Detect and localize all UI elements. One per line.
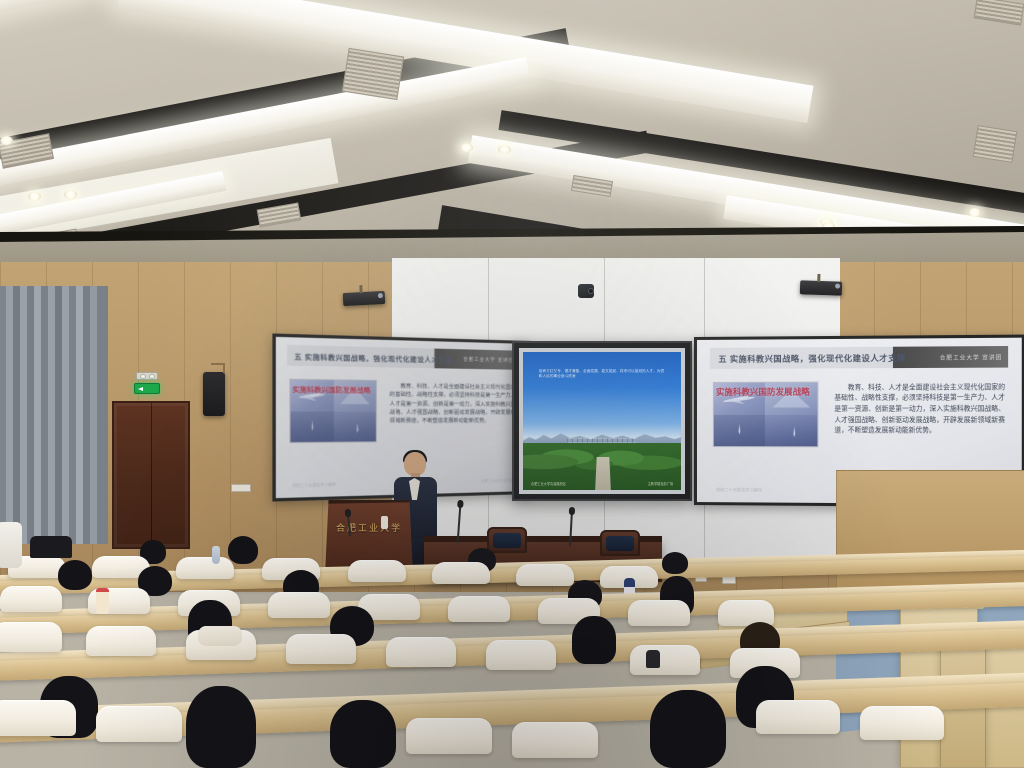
slide-image-collage: 实施科教兴国防发展战略 [713,382,818,448]
seat-back [432,562,490,584]
water-bottle [212,546,220,564]
loudspeaker-icon [203,372,225,416]
seat-back [628,600,690,626]
slide-body-text: 教育、科技、人才是全面建设社会主义现代化国家的基础性、战略性支撑，必须坚持科技是… [390,382,516,456]
slide-title-text: 五 实施科教兴国战略，强化现代化建设人才支撑 [294,350,452,364]
seat-back [86,626,156,656]
slide-title-bar: 五 实施科教兴国战略，强化现代化建设人才支撑 合肥工业大学 宣讲团 [287,345,518,370]
hvac-vent [974,0,1024,26]
seat-back [630,645,700,675]
audience-person [662,552,688,574]
slide-logo-text: 合肥工业大学 宣讲团 [940,353,1002,362]
door-seam [151,403,152,547]
thermos-bottle [96,588,109,614]
campus-path [595,457,611,490]
photo-caption-right: 主教学楼及前广场 [648,481,674,486]
audience-person [58,560,92,590]
collage-cell [291,411,334,442]
seat-back [268,592,330,618]
photo-sky-inscription: 培养又红又专、德才兼备、全面发展、能文能武、将来可以接班的人才，为党和人民的事业… [539,369,665,380]
seat-back [756,700,840,734]
projector-mount [359,285,362,293]
exit-sign-icon [134,383,160,394]
slide-body-paragraph: 教育、科技、人才是全面建设社会主义现代化国家的基础性、战略性支撑，必须坚持科技是… [390,382,516,426]
audience-person [650,690,726,768]
exit-door[interactable] [112,401,190,549]
projector-lens-icon [378,293,383,298]
projector-icon [343,291,386,306]
seat-back [860,706,944,740]
microphone-head [457,500,464,508]
seat-back [516,564,574,586]
projector-mount [817,274,820,282]
coat-on-seat [198,626,242,646]
slide-footer-left: 党的二十大报告学习辅导 [716,488,762,498]
projector-lens-icon [835,283,840,288]
slide-title-text: 五 实施科教兴国战略，强化现代化建设人才支撑 [718,351,906,364]
downlight [28,192,41,201]
standing-person [0,522,22,568]
downlight [498,145,511,154]
lectern-label: 合肥工业大学 [330,521,407,534]
camera-lens-icon [588,288,594,294]
head-table-chair [487,527,527,553]
slide-body-text: 教育、科技、人才是全面建设社会主义现代化国家的基础性、战略性支撑，必须坚持科技是… [834,383,1005,463]
slide-image-collage: 实施科教兴国防发展战略 [290,379,377,443]
audience-person [330,700,396,768]
seat-back [0,700,76,736]
chair-cushion [493,533,521,548]
head-table-chair [600,530,640,556]
framed-campus-photo: 培养又红又专、德才兼备、全面发展、能文能武、将来可以接班的人才，为党和人民的事业… [512,341,692,501]
hvac-vent [342,48,404,100]
seat-back [512,722,598,758]
downlight [0,136,13,145]
slide-image-caption: 实施科教兴国防发展战略 [716,385,815,398]
photo-caption-left: 合肥工业大学屯溪路校区 [531,481,566,486]
water-bottle [381,516,388,529]
exit-arrow-icon [138,387,143,391]
seat-back [406,718,492,754]
seat-back [0,622,62,652]
collage-cell [765,414,817,446]
campus-photo-image: 培养又红又专、德才兼备、全面发展、能文能武、将来可以接班的人才，为党和人民的事业… [523,352,681,490]
front-chair [30,536,72,558]
downlight [64,190,77,199]
collage-cell [714,414,765,446]
downlight [968,208,981,217]
chair-cushion [606,536,634,551]
seat-back [348,560,406,582]
microphone-head [569,507,575,515]
slide-logo-text: 合肥工业大学 宣讲团 [463,356,513,363]
tumbler [646,650,660,668]
emergency-light-icon [136,372,158,380]
seat-back [486,640,556,670]
collage-cell [334,411,376,442]
camera-icon [578,284,594,298]
audience-person [572,616,616,664]
wall-outlet[interactable] [231,484,251,492]
seat-back [96,706,182,742]
slide-footer-right: 合肥工业大学 宣讲团 [481,478,513,488]
slide-footer-left: 党的二十大报告学习辅导 [292,482,336,493]
photo-mat: 培养又红又专、德才兼备、全面发展、能文能武、将来可以接班的人才，为党和人民的事业… [519,348,685,494]
seat-back [0,586,62,612]
slide-image-caption: 实施科教兴国防发展战略 [292,383,374,396]
speaker-bracket [211,363,225,373]
audience-person [228,536,258,564]
slide-title-bar: 五 实施科教兴国战略，强化现代化建设人才支撑 合肥工业大学 宣讲团 [710,346,1009,369]
audience-person [186,686,256,768]
microphone-head [345,509,352,517]
seat-back [386,637,456,667]
lecture-hall-photo: 五 实施科教兴国战略，强化现代化建设人才支撑 合肥工业大学 宣讲团 实施科教兴国… [0,0,1024,768]
seat-back [448,596,510,622]
seat-back [286,634,356,664]
slide-body-paragraph: 教育、科技、人才是全面建设社会主义现代化国家的基础性、战略性支撑，必须坚持科技是… [834,383,1005,438]
projector-icon [800,280,842,295]
seat-back [176,557,234,579]
hvac-vent [973,125,1018,163]
window-curtain [0,286,108,544]
downlight [460,143,473,152]
